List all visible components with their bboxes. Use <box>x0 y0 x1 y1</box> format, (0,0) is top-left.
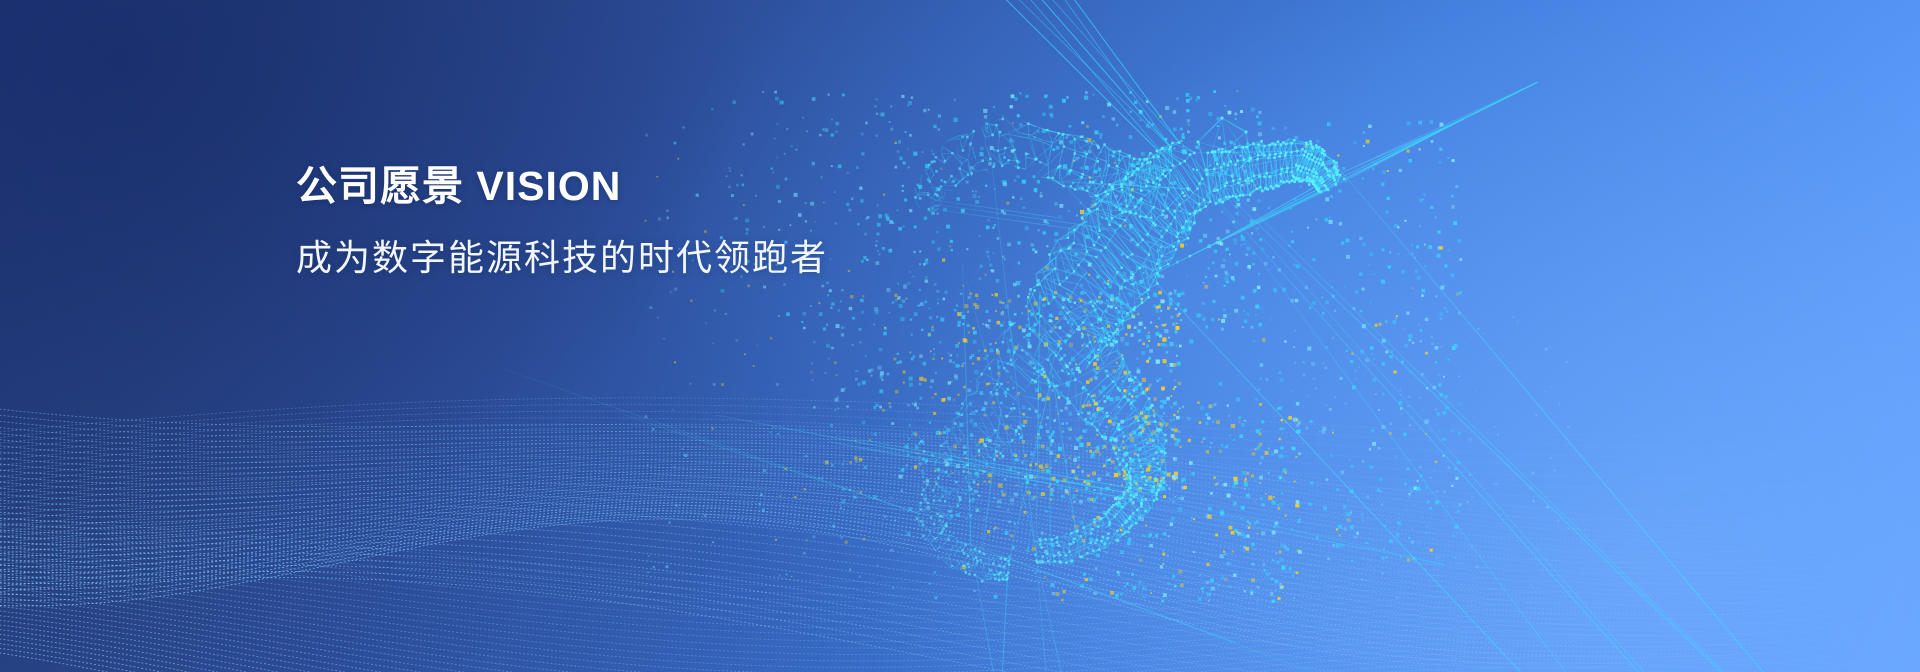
page-title: 公司愿景 VISION <box>296 163 1056 210</box>
wireframe-runner-icon <box>0 0 1920 672</box>
page-subtitle: 成为数字能源科技的时代领跑者 <box>296 236 1056 279</box>
banner-text-block: 公司愿景 VISION 成为数字能源科技的时代领跑者 <box>296 163 1056 279</box>
vision-hero-banner: 公司愿景 VISION 成为数字能源科技的时代领跑者 <box>0 0 1920 672</box>
